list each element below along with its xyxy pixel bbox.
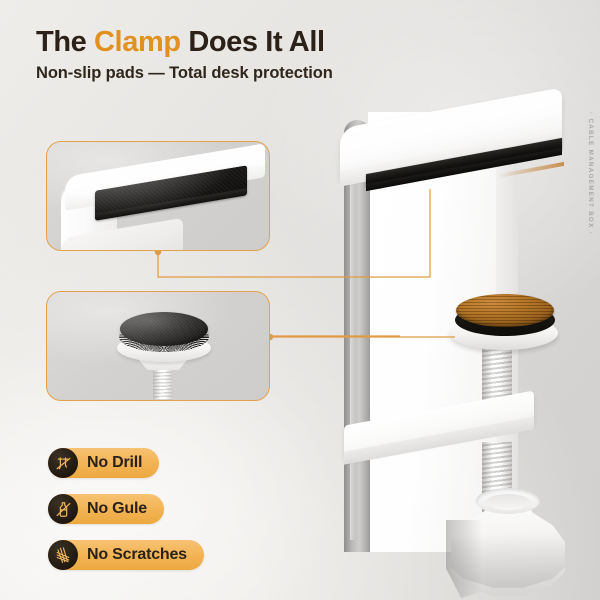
callout-pad-white-base <box>117 334 211 362</box>
callout-black-felt-pad-edge <box>95 188 247 220</box>
callout-box-clamp-arm-pad <box>46 141 270 251</box>
badge-label: No Drill <box>87 454 142 472</box>
no-glue-icon <box>48 494 78 524</box>
no-drill-icon <box>48 448 78 478</box>
callout-pad-bristle-edge <box>119 322 209 352</box>
callout-screw-shading <box>153 360 172 401</box>
orange-non-slip-pad <box>456 294 554 327</box>
product-infographic: The Clamp Does It All Non-slip pads — To… <box>0 0 600 600</box>
page-subheadline: Non-slip pads — Total desk protection <box>36 64 333 83</box>
badge-no-glue[interactable]: No Gule <box>48 494 164 524</box>
badge-no-scratches[interactable]: No Scratches <box>48 540 204 570</box>
page-headline: The Clamp Does It All <box>36 26 325 59</box>
headline-accent: Clamp <box>94 26 181 58</box>
no-scratches-icon <box>48 540 78 570</box>
headline-post: Does It All <box>181 26 325 58</box>
callout-top-illustration <box>47 142 269 250</box>
callout-round-black-pad <box>120 312 208 346</box>
star-knob-bore <box>486 494 530 510</box>
side-caption-cable-management-box: · CABLE MANAGEMENT BOX · <box>587 112 594 235</box>
callout-box-screw-pad <box>46 291 270 401</box>
callout-black-felt-pad <box>95 165 247 220</box>
badge-no-drill[interactable]: No Drill <box>48 448 159 478</box>
callout-arm-post-edge <box>61 186 73 251</box>
callout-arm-post <box>61 186 117 251</box>
callout-arm-slab <box>65 143 265 210</box>
callout-screw-cone <box>129 348 197 370</box>
headline-pre: The <box>36 26 94 58</box>
feature-badge-list: No Drill No Gule <box>48 448 204 586</box>
main-product-clamp <box>300 90 600 600</box>
badge-label: No Scratches <box>87 546 187 564</box>
badge-label: No Gule <box>87 500 147 518</box>
pole-highlight <box>350 130 356 540</box>
callout-arm-body <box>61 218 183 251</box>
callout-screw-shaft <box>153 360 172 401</box>
star-knob-side-shadow <box>446 520 482 598</box>
